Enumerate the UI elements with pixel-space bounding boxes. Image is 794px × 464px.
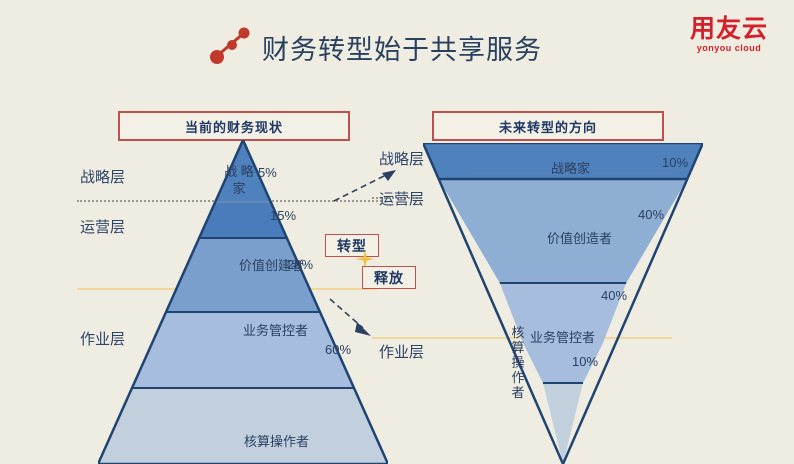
slide-canvas: 财务转型始于共享服务 用友云 yonyou cloud 当前的财务现状 未来转型…: [0, 0, 794, 464]
dashed-arrow-down-right-icon: [327, 296, 375, 338]
dashed-arrow-up-right-icon: [332, 168, 398, 204]
brand-logo-en: yonyou cloud: [679, 42, 779, 54]
panel-caption-future: 未来转型的方向: [432, 111, 664, 141]
callout-release: 释放: [362, 266, 416, 289]
brand-logo-cn: 用友云: [679, 16, 779, 42]
page-title: 财务转型始于共享服务: [262, 28, 542, 67]
slide-header: 财务转型始于共享服务 用友云 yonyou cloud: [0, 0, 794, 92]
pyramid-future-state-shape: [423, 143, 703, 464]
panel-caption-current: 当前的财务现状: [118, 111, 350, 141]
brand-logo: 用友云 yonyou cloud: [679, 16, 779, 60]
node-connector-icon: [208, 26, 254, 66]
pyramid-future-state: [423, 143, 703, 464]
